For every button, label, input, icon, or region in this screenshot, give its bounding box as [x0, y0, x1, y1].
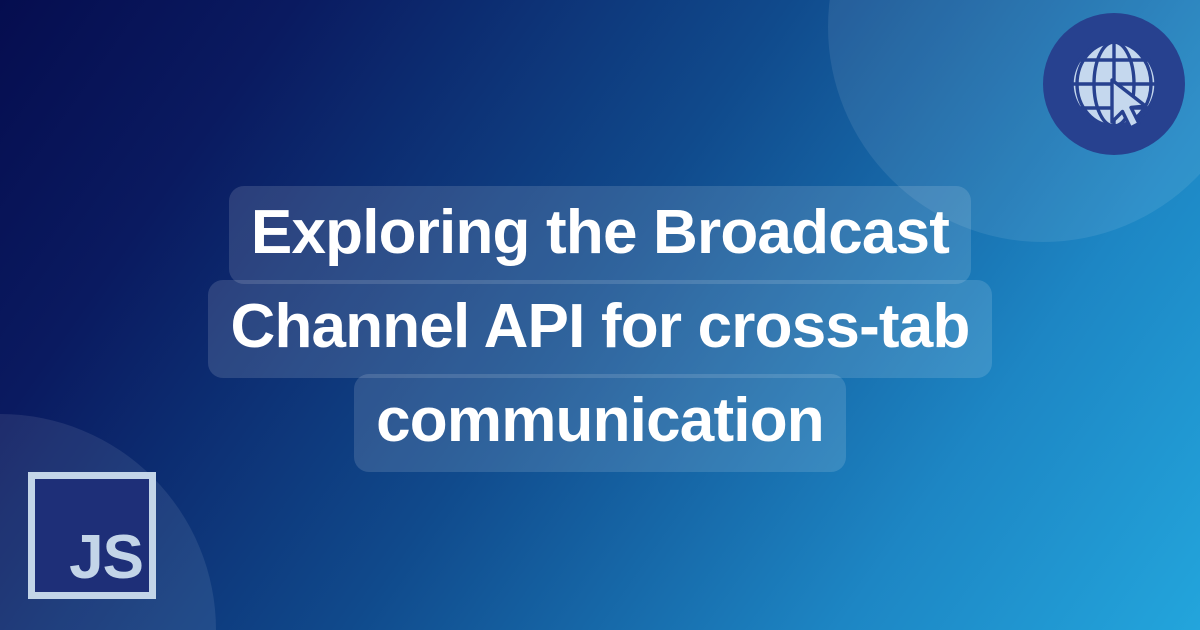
globe-cursor-icon: [1060, 30, 1168, 138]
title-line-1: Exploring the Broadcast: [229, 186, 971, 284]
share-card: JS Exploring the Broadcast Channel API f…: [0, 0, 1200, 630]
javascript-logo-label: JS: [69, 528, 149, 592]
globe-badge: [1043, 13, 1185, 155]
title-line-3: communication: [354, 374, 846, 472]
javascript-logo: JS: [28, 472, 156, 599]
page-title: Exploring the Broadcast Channel API for …: [0, 186, 1200, 472]
title-line-2: Channel API for cross-tab: [208, 280, 991, 378]
